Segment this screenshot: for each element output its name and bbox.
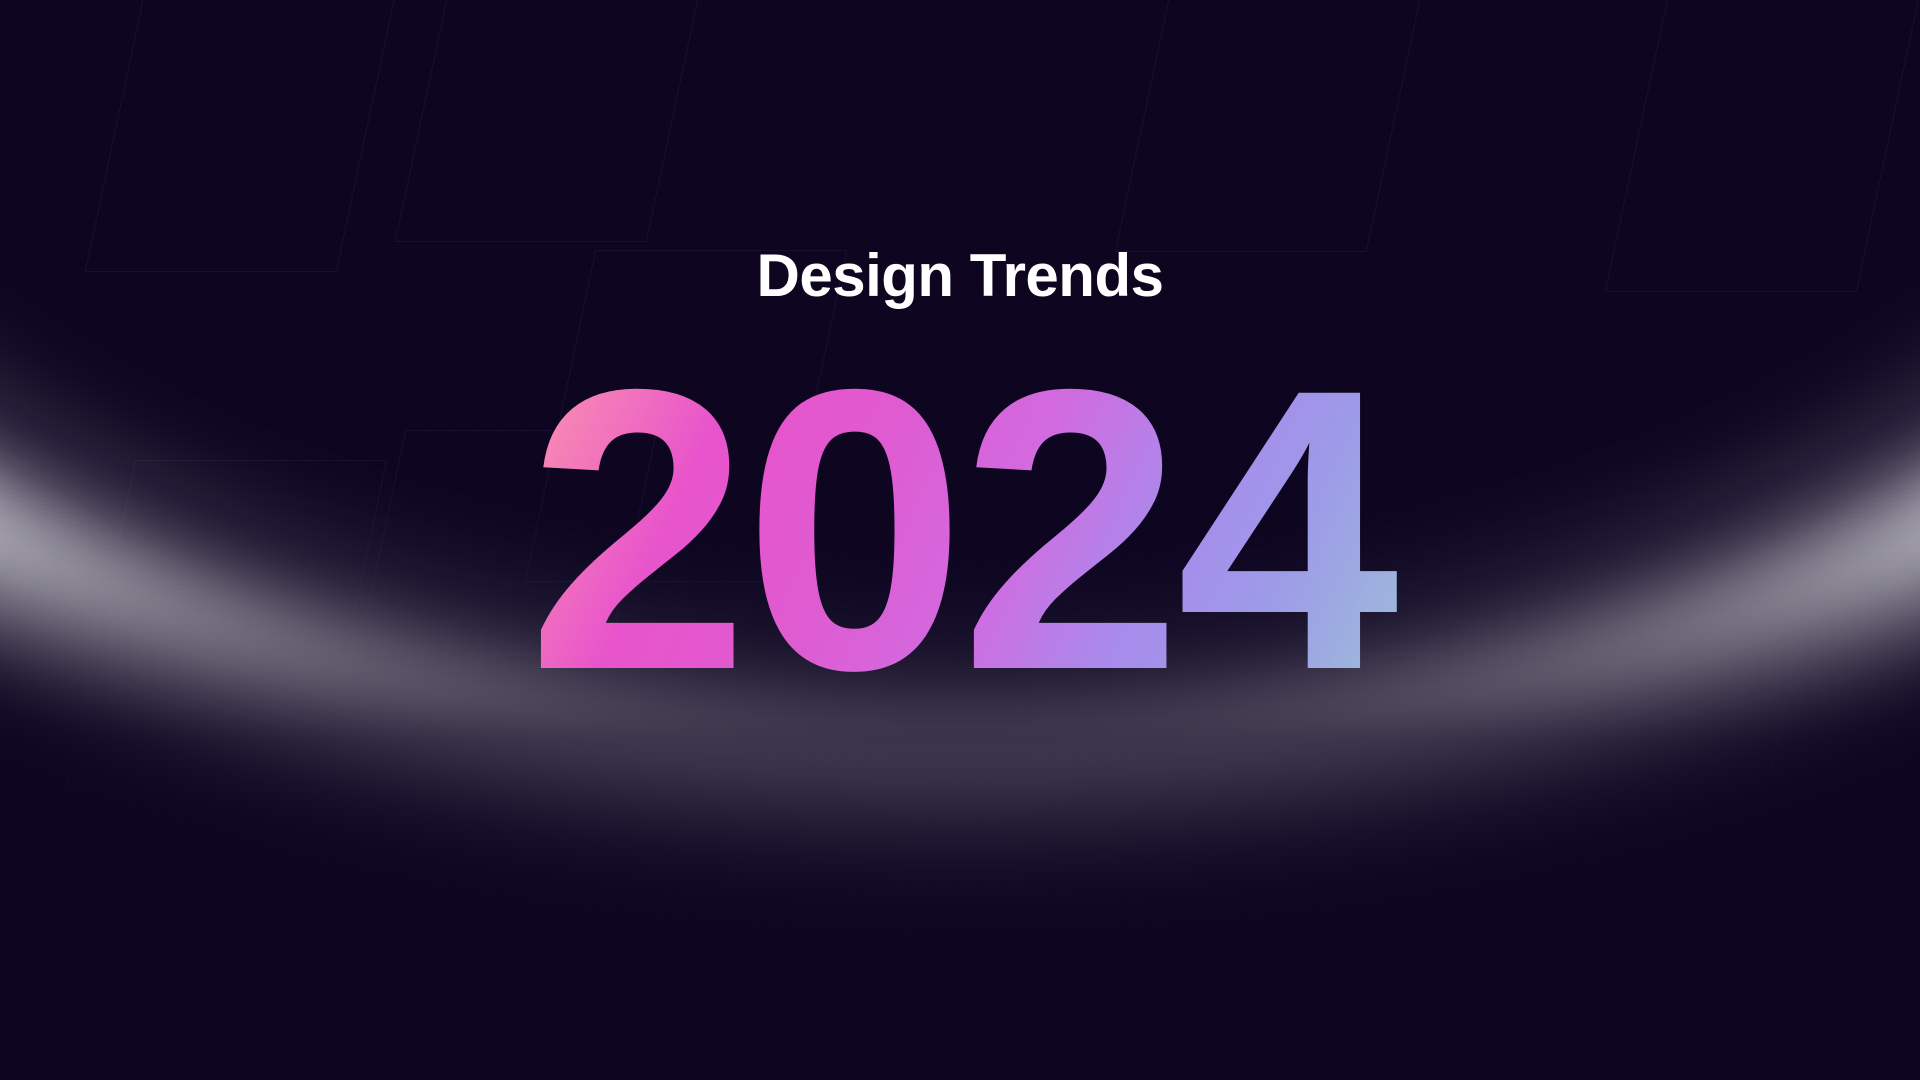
hero-content: Design Trends 2024 (0, 0, 1920, 1080)
year-display: 2024 (0, 330, 1920, 730)
hero-canvas: Design Trends 2024 (0, 0, 1920, 1080)
page-title: Design Trends (0, 246, 1920, 306)
